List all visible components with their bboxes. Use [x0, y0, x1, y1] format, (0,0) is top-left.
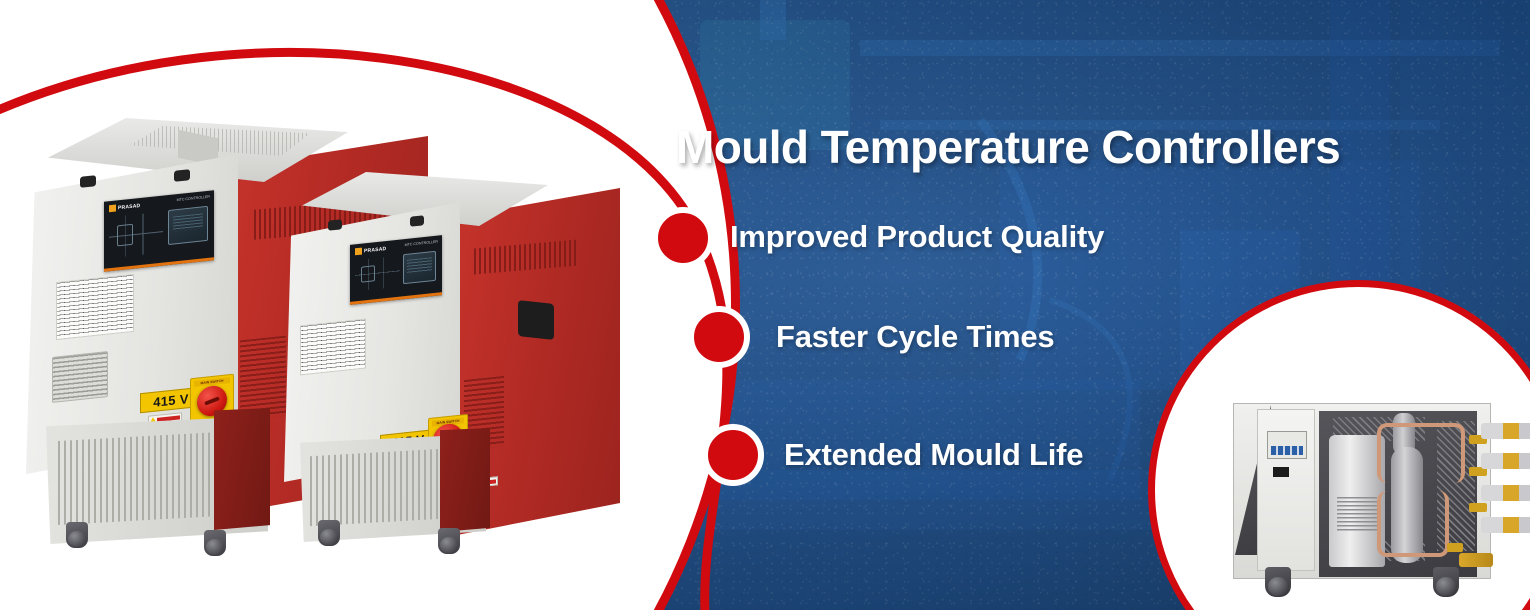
unit-large-spec-label	[56, 274, 134, 340]
cutaway-brass-valve-4	[1447, 543, 1463, 552]
unit-large-vent-grill	[52, 351, 108, 403]
cutaway-valve-manifold	[1481, 423, 1530, 559]
feature-label-1: Improved Product Quality	[730, 219, 1104, 255]
mould-temperature-controller-banner: PRASAD MTC CONTROLLER 415 V MAIN SWITCH …	[0, 0, 1530, 610]
page-title: Mould Temperature Controllers	[676, 120, 1340, 174]
feature-bullet-icon-3	[702, 424, 764, 486]
cutaway-control-button	[1273, 467, 1289, 477]
cutaway-copper-pipe-upper	[1377, 423, 1465, 483]
unit-small-base-red-plate	[440, 428, 490, 532]
unit-large-panel-brand: PRASAD	[109, 202, 140, 212]
cutaway-unit	[1233, 395, 1493, 591]
unit-large-caster-rear	[204, 530, 226, 556]
feature-label-2: Faster Cycle Times	[776, 319, 1054, 355]
left-product-photo: PRASAD MTC CONTROLLER 415 V MAIN SWITCH …	[0, 0, 700, 610]
cutaway-caster-right	[1433, 567, 1459, 597]
feature-bullet-icon-1	[652, 207, 714, 269]
unit-small-panel-schematic	[355, 256, 400, 292]
unit-large-control-panel: PRASAD MTC CONTROLLER	[104, 190, 214, 272]
unit-large-panel-title: MTC CONTROLLER	[177, 195, 210, 203]
unit-small-panel-display	[403, 251, 436, 284]
unit-small-panel-title: MTC CONTROLLER	[405, 240, 438, 248]
manifold-port-2	[1481, 453, 1530, 469]
feature-bullet-icon-2	[688, 306, 750, 368]
unit-large-base-vents	[58, 431, 238, 525]
unit-small-latch-right	[410, 215, 424, 226]
unit-large-caster-front	[66, 522, 88, 548]
unit-large-base-red-plate	[214, 408, 270, 530]
unit-small-latch-left	[328, 219, 342, 230]
unit-large-latch-right	[174, 169, 190, 182]
prasad-logo-mark	[355, 248, 362, 256]
mtc-unit-small: PRASAD MTC CONTROLLER 415 V MAIN SWITCH …	[278, 172, 608, 572]
unit-small-spec-label	[300, 319, 366, 376]
cutaway-caster-left	[1265, 567, 1291, 597]
manifold-port-4	[1481, 517, 1530, 533]
unit-large-latch-left	[80, 175, 96, 188]
feature-label-3: Extended Mould Life	[784, 437, 1083, 473]
prasad-logo-mark	[109, 205, 116, 213]
manifold-port-1	[1481, 423, 1530, 439]
cutaway-copper-pipe-lower	[1377, 491, 1449, 557]
unit-small-access-port	[518, 300, 554, 340]
unit-small-base-vents	[310, 448, 460, 526]
unit-small-control-panel: PRASAD MTC CONTROLLER	[350, 235, 442, 305]
unit-small-caster-rear	[438, 528, 460, 554]
unit-small-brand-text: PRASAD	[364, 246, 386, 254]
unit-large-brand-text: PRASAD	[118, 202, 140, 210]
unit-small-panel-brand: PRASAD	[355, 245, 386, 255]
unit-large-panel-schematic	[109, 212, 163, 259]
unit-large-panel-display	[168, 206, 208, 245]
manifold-port-3	[1481, 485, 1530, 501]
unit-small-caster-front	[318, 520, 340, 546]
cutaway-breaker-block	[1267, 431, 1307, 459]
